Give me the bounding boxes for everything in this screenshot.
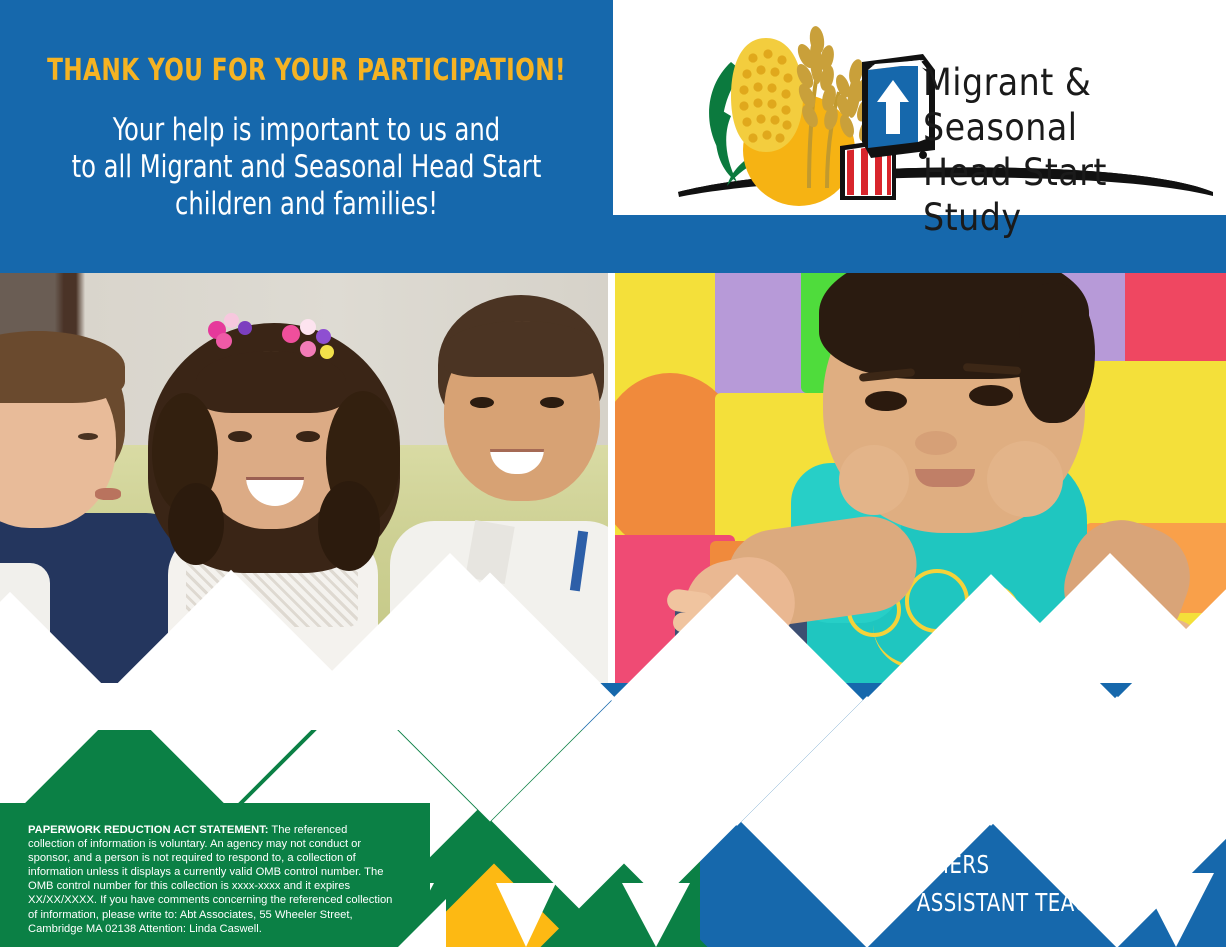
- list-item: ASSISTANT TEACHERS: [900, 884, 1183, 922]
- audience-label: CHILDREN: [845, 812, 950, 841]
- list-item: TEACHERS: [864, 846, 1179, 884]
- header-subline-2: to all Migrant and Seasonal Head Start: [40, 149, 573, 186]
- paperwork-body: The referenced collection of information…: [28, 824, 392, 935]
- poster-page: THANK YOU FOR YOUR PARTICIPATION! Your h…: [0, 0, 1226, 947]
- header-subline-1: Your help is important to us and: [40, 112, 573, 149]
- logo-name-line-1: Migrant & Seasonal: [923, 60, 1213, 150]
- logo-graphic: Migrant & Seasonal Head Start Study: [613, 0, 1226, 215]
- bottom-white-wedge: [496, 883, 556, 947]
- list-item: CHILDREN: [828, 808, 1175, 846]
- list-item: PARENTS: [792, 770, 1170, 808]
- logo-wordmark: Migrant & Seasonal Head Start Study: [923, 60, 1213, 240]
- audience-label: PARENTS: [809, 774, 902, 803]
- header-text-block: THANK YOU FOR YOUR PARTICIPATION! Your h…: [0, 0, 613, 273]
- audience-label: ASSISTANT TEACHERS: [917, 888, 1144, 917]
- bullet-icon: [864, 861, 870, 868]
- audience-label: TEACHERS: [881, 850, 990, 879]
- thank-you-heading: THANK YOU FOR YOUR PARTICIPATION!: [43, 53, 570, 88]
- header-subline: Your help is important to us and to all …: [40, 112, 573, 223]
- paperwork-reduction-statement: PAPERWORK REDUCTION ACT STATEMENT: The r…: [28, 823, 396, 936]
- bullet-icon: [900, 899, 906, 906]
- bottom-white-wedge: [622, 883, 690, 947]
- audience-list: PARENTS CHILDREN TEACHERS ASSISTANT TEAC…: [792, 770, 1222, 922]
- logo-name-line-2: Head Start Study: [923, 150, 1213, 240]
- logo-panel: Migrant & Seasonal Head Start Study: [613, 0, 1226, 215]
- header-subline-3: children and families!: [40, 186, 573, 223]
- bullet-icon: [792, 785, 798, 792]
- bullet-icon: [828, 823, 834, 830]
- header-banner: THANK YOU FOR YOUR PARTICIPATION! Your h…: [0, 0, 1226, 273]
- green-corner-cut: [398, 899, 446, 947]
- paperwork-heading: PAPERWORK REDUCTION ACT STATEMENT:: [28, 824, 269, 836]
